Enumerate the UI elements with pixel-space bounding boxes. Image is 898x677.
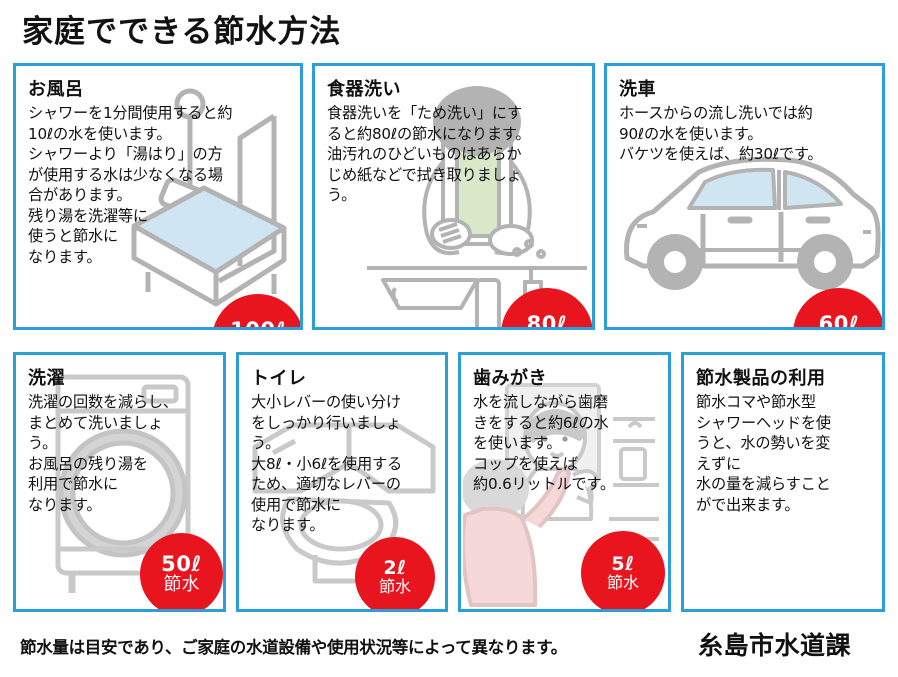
card-body: 食器洗いを「ため洗い」にす ると約80ℓの節水になります。 油汚れのひどいものは… [327,103,586,206]
badge-amount: 60ℓ [819,314,860,330]
card-body: 洗濯の回数を減らし、 まとめて洗いましょ う。 お風呂の残り湯を 利用で節水に … [28,392,217,515]
card-heading: 歯みがき [473,364,668,390]
savings-badge-bath: 100ℓ 節水 [212,294,303,330]
card-laundry: 洗濯 洗濯の回数を減らし、 まとめて洗いましょ う。 お風呂の残り湯を 利用で節… [13,352,226,612]
footer-disclaimer: 節水量は目安であり、ご家庭の水道設備や使用状況等によって異なります。 [20,634,567,658]
card-heading: 食器洗い [327,75,592,101]
infographic-page: 家庭でできる節水方法 お風呂 シャワーを1分間使用すると約 10ℓの水を使います… [0,0,898,677]
savings-badge-toothbrushing: 5ℓ 節水 [581,531,665,612]
savings-badge-laundry: 50ℓ 節水 [140,533,223,612]
savings-badge-carwash: 60ℓ 節水 [793,288,885,330]
badge-amount: 2ℓ [383,559,406,579]
card-bath: お風呂 シャワーを1分間使用すると約 10ℓの水を使います。 シャワーより「湯は… [13,63,303,330]
badge-amount: 50ℓ [161,554,202,576]
card-body: ホースからの流し洗いでは約 90ℓの水を使います。 バケツを使えば、約30ℓです… [619,103,876,165]
card-body: 大小レバーの使い分け をしっかり行いましょ う。 大8ℓ・小6ℓを使用する ため… [251,392,439,536]
badge-amount: 80ℓ [527,314,568,330]
card-toilet: トイレ 大小レバーの使い分け をしっかり行いましょ う。 大8ℓ・小6ℓを使用す… [236,352,448,612]
card-heading: 洗濯 [28,364,223,390]
card-heading: 節水製品の利用 [696,364,882,390]
card-body: 節水コマや節水型 シャワーヘッドを使 うと、水の勢いを変 えずに 水の量を減らす… [696,392,876,515]
badge-amount: 100ℓ [230,320,286,330]
card-body: 水を流しながら歯磨 きをすると約6ℓの水 を使います。 コップを使えば 約0.6… [473,392,662,495]
card-heading: トイレ [251,364,445,390]
page-title: 家庭でできる節水方法 [22,12,341,52]
card-toothbrushing: 歯みがき 水を流しながら歯磨 きをすると約6ℓの水 を使います。 コップを使えば… [458,352,671,612]
footer-organization: 糸島市水道課 [698,626,851,662]
badge-amount: 5ℓ [611,555,634,575]
badge-label: 節水 [164,576,200,595]
savings-badge-dishwashing: 80ℓ 節水 [501,288,593,330]
card-water-saving-products: 節水製品の利用 節水コマや節水型 シャワーヘッドを使 うと、水の勢いを変 えずに… [681,352,885,612]
card-heading: お風呂 [28,75,300,101]
badge-label: 節水 [379,579,411,596]
card-carwash: 洗車 ホースからの流し洗いでは約 90ℓの水を使います。 バケツを使えば、約30… [604,63,885,330]
badge-label: 節水 [607,575,639,592]
card-heading: 洗車 [619,75,882,101]
savings-badge-toilet: 2ℓ 節水 [355,537,435,612]
card-dishwashing: 食器洗い 食器洗いを「ため洗い」にす ると約80ℓの節水になります。 油汚れのひ… [312,63,595,330]
card-body: シャワーを1分間使用すると約 10ℓの水を使います。 シャワーより「湯はり」の方… [28,103,294,267]
